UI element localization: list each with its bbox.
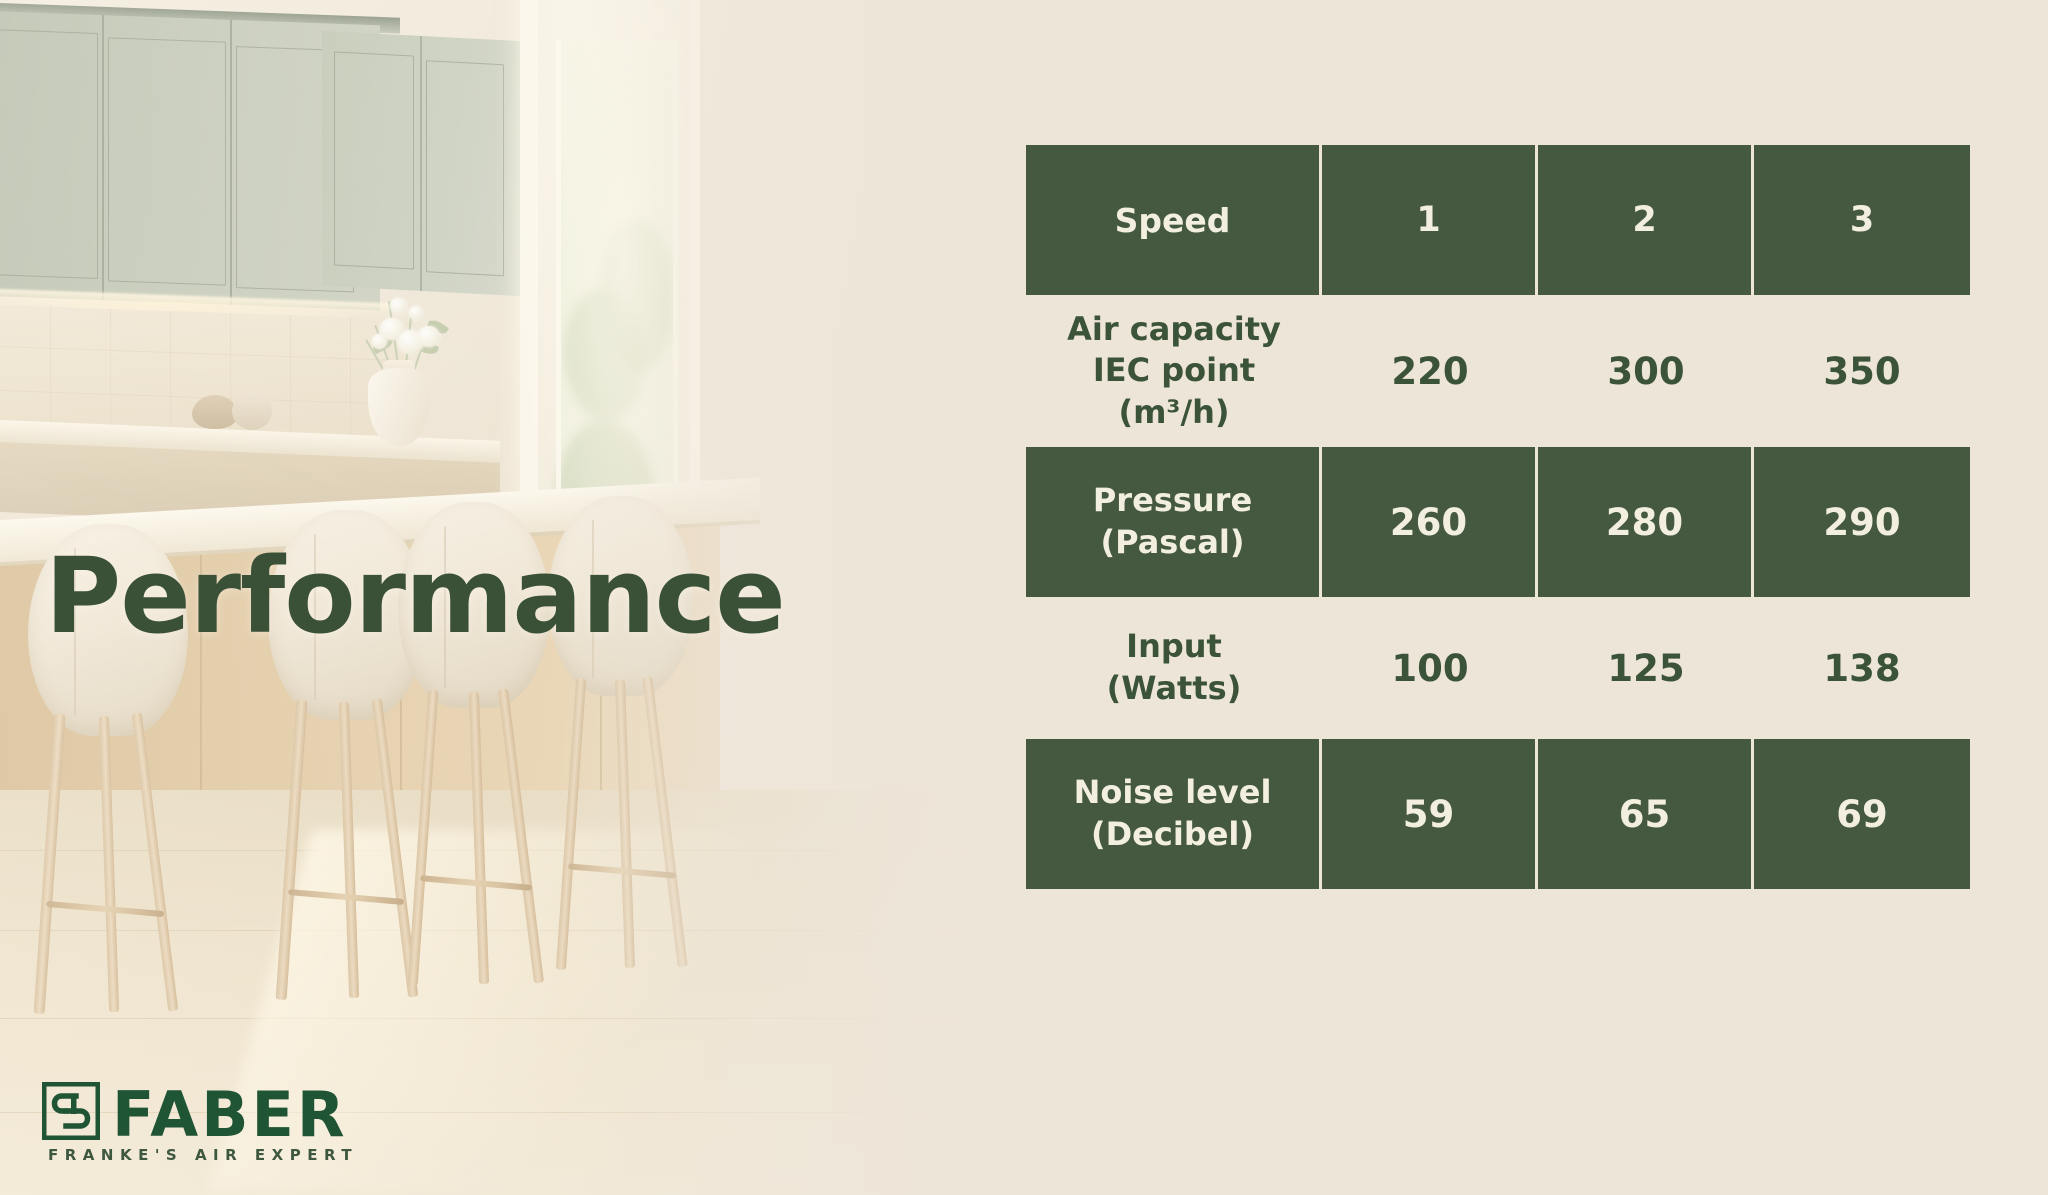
page-title: Performance: [45, 544, 785, 648]
cell-input-speed-3: 138: [1754, 597, 1970, 739]
row-label-line-2: (Decibel): [1026, 814, 1319, 856]
table-row-input: Input (Watts) 100 125 138: [1026, 597, 1970, 739]
cell-pressure-speed-1: 260: [1322, 447, 1538, 597]
cell-noise-speed-2: 65: [1538, 739, 1754, 889]
cell-noise-speed-3: 69: [1754, 739, 1970, 889]
brand-logo: FABER FRANKE'S AIR EXPERT: [42, 1082, 382, 1182]
header-cell-speed-3: 3: [1754, 145, 1970, 295]
cell-input-speed-2: 125: [1538, 597, 1754, 739]
table-row-pressure: Pressure (Pascal) 260 280 290: [1026, 447, 1970, 597]
cell-air-capacity-speed-2: 300: [1538, 295, 1754, 447]
header-cell-speed-1: 1: [1322, 145, 1538, 295]
row-label-line-1: Air capacity: [1026, 309, 1322, 351]
cell-air-capacity-speed-1: 220: [1322, 295, 1538, 447]
table-header-row: Speed 1 2 3: [1026, 145, 1970, 295]
row-label-line-3: (m³/h): [1026, 392, 1322, 434]
brand-name: FABER: [112, 1078, 348, 1151]
row-label-line-2: (Watts): [1026, 668, 1322, 710]
row-label-line-1: Noise level: [1026, 772, 1319, 814]
row-label-line-2: (Pascal): [1026, 522, 1319, 564]
faber-square-logo-icon: [42, 1082, 100, 1140]
cell-noise-speed-1: 59: [1322, 739, 1538, 889]
row-label-air-capacity: Air capacity IEC point (m³/h): [1026, 295, 1322, 447]
cell-pressure-speed-2: 280: [1538, 447, 1754, 597]
header-cell-speed: Speed: [1026, 145, 1322, 295]
row-label-pressure: Pressure (Pascal): [1026, 447, 1322, 597]
row-label-line-2: IEC point: [1026, 350, 1322, 392]
table-row-noise-level: Noise level (Decibel) 59 65 69: [1026, 739, 1970, 889]
row-label-line-1: Input: [1026, 626, 1322, 668]
cell-air-capacity-speed-3: 350: [1754, 295, 1970, 447]
table-row-air-capacity: Air capacity IEC point (m³/h) 220 300 35…: [1026, 295, 1970, 447]
row-label-noise-level: Noise level (Decibel): [1026, 739, 1322, 889]
row-label-line-1: Pressure: [1026, 480, 1319, 522]
row-label-input: Input (Watts): [1026, 597, 1322, 739]
performance-spec-table: Speed 1 2 3 Air capacity IEC point (m³/h…: [1026, 145, 1970, 889]
cell-input-speed-1: 100: [1322, 597, 1538, 739]
header-cell-speed-2: 2: [1538, 145, 1754, 295]
brand-tagline: FRANKE'S AIR EXPERT: [48, 1146, 358, 1164]
cell-pressure-speed-3: 290: [1754, 447, 1970, 597]
